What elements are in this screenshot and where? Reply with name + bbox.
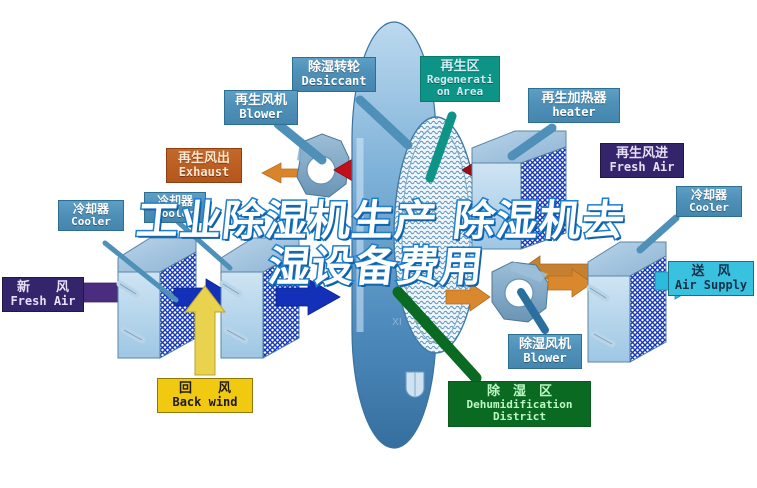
label-cooler-right: 冷却器 Cooler (676, 186, 742, 217)
label-cooler-left-a: 冷却器 Cooler (58, 200, 124, 231)
label-dehumidification-blower: 除湿风机 Blower (508, 334, 582, 369)
label-regeneration-exhaust: 再生风出 Exhaust (166, 148, 242, 183)
svg-text:XI: XI (392, 317, 402, 328)
label-desiccant-wheel-cn: 除湿转轮 (297, 61, 371, 75)
label-regeneration-blower: 再生风机 Blower (224, 90, 298, 125)
dehumidifier-flow-diagram: XI (0, 0, 757, 488)
label-regeneration-exhaust-en: Exhaust (171, 166, 237, 179)
label-fresh-air-inlet-cn: 新 风 (7, 281, 79, 295)
label-regeneration-blower-en: Blower (229, 108, 293, 121)
label-dehumidification-district-en-2: District (453, 411, 586, 423)
label-regeneration-area-en-2: on Area (424, 86, 496, 98)
label-fresh-air-inlet-en: Fresh Air (7, 295, 79, 308)
label-back-wind-en: Back wind (162, 396, 248, 409)
label-cooler-left-a-cn: 冷却器 (63, 203, 119, 216)
label-back-wind-cn: 回 风 (162, 382, 248, 396)
label-regeneration-fresh-air-cn: 再生风进 (605, 147, 679, 161)
label-cooler-left-a-en: Cooler (63, 216, 119, 228)
label-dehumidification-district: 除 湿 区 Dehumidification District (448, 381, 591, 427)
label-cooler-right-en: Cooler (681, 202, 737, 214)
label-desiccant-wheel-en: Desiccant (297, 75, 371, 88)
label-air-supply-cn: 送 风 (673, 265, 749, 279)
label-dehumidification-blower-cn: 除湿风机 (513, 338, 577, 352)
cooler-unit-3 (588, 242, 666, 362)
label-regeneration-area: 再生区 Regenerati on Area (420, 56, 500, 102)
label-desiccant-wheel: 除湿转轮 Desiccant (292, 57, 376, 92)
label-regeneration-heater: 再生加热器 heater (528, 88, 620, 123)
label-air-supply-en: Air Supply (673, 279, 749, 292)
label-dehumidification-blower-en: Blower (513, 352, 577, 365)
diagram-artwork: XI (0, 0, 757, 488)
label-regeneration-fresh-air-en: Fresh Air (605, 161, 679, 174)
label-regeneration-blower-cn: 再生风机 (229, 94, 293, 108)
label-regeneration-fresh-air: 再生风进 Fresh Air (600, 143, 684, 178)
label-back-wind: 回 风 Back wind (157, 378, 253, 413)
label-cooler-left-b: 冷却器 Cooler (144, 192, 206, 223)
label-cooler-right-cn: 冷却器 (681, 189, 737, 202)
label-regeneration-heater-cn: 再生加热器 (533, 92, 615, 106)
label-fresh-air-inlet: 新 风 Fresh Air (2, 277, 84, 312)
label-cooler-left-b-en: Cooler (149, 208, 201, 220)
label-regeneration-area-cn: 再生区 (424, 60, 496, 74)
label-regeneration-heater-en: heater (533, 106, 615, 119)
label-regeneration-exhaust-cn: 再生风出 (171, 152, 237, 166)
arrow-regeneration-exhaust (262, 163, 300, 183)
label-air-supply: 送 风 Air Supply (668, 261, 754, 296)
label-cooler-left-b-cn: 冷却器 (149, 195, 201, 208)
label-dehumidification-district-cn: 除 湿 区 (453, 385, 586, 399)
